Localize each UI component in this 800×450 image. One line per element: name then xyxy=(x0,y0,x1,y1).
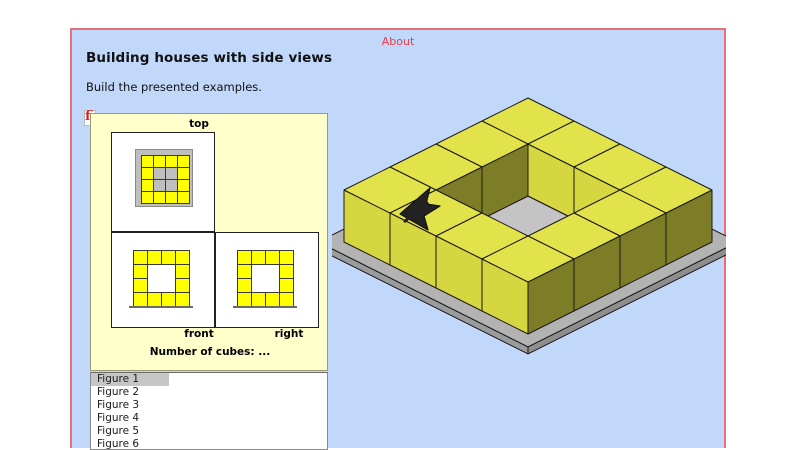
list-item[interactable]: Figure 3 xyxy=(91,399,327,412)
top-view-box[interactable] xyxy=(111,132,215,232)
right-elevation xyxy=(233,250,295,312)
front-view-cell-3-2[interactable] xyxy=(161,292,176,307)
front-elevation-grid xyxy=(133,250,189,306)
right-view-cell-0-0[interactable] xyxy=(237,250,252,265)
right-view-cell-3-3[interactable] xyxy=(279,292,294,307)
list-item[interactable]: Figure 2 xyxy=(91,386,327,399)
list-item[interactable]: Figure 5 xyxy=(91,425,327,438)
figure-list[interactable]: Figure 1Figure 2Figure 3Figure 4Figure 5… xyxy=(90,372,328,450)
right-view-cell-0-1[interactable] xyxy=(251,250,266,265)
top-view-grid xyxy=(141,155,189,203)
right-elevation-grid xyxy=(237,250,293,306)
right-view-cell-1-2[interactable] xyxy=(265,264,280,279)
list-item[interactable]: Figure 4 xyxy=(91,412,327,425)
list-item[interactable]: Figure 6 xyxy=(91,438,327,450)
label-top-view: top xyxy=(109,118,289,130)
front-view-cell-1-2[interactable] xyxy=(161,264,176,279)
right-view-cell-3-2[interactable] xyxy=(265,292,280,307)
front-elevation xyxy=(129,250,191,312)
front-view-cell-1-1[interactable] xyxy=(147,264,162,279)
front-view-cell-0-3[interactable] xyxy=(175,250,190,265)
page-frame: About Building houses with side views Bu… xyxy=(70,28,726,448)
front-ground-line xyxy=(129,306,193,308)
top-view-cell-3-3[interactable] xyxy=(177,191,190,204)
right-view-box[interactable] xyxy=(215,232,319,328)
right-view-cell-3-0[interactable] xyxy=(237,292,252,307)
right-view-cell-1-3[interactable] xyxy=(279,264,294,279)
page-title: Building houses with side views xyxy=(86,50,332,66)
right-view-cell-2-2[interactable] xyxy=(265,278,280,293)
page-subtitle: Build the presented examples. xyxy=(86,80,262,94)
right-view-cell-0-2[interactable] xyxy=(265,250,280,265)
right-view-cell-2-3[interactable] xyxy=(279,278,294,293)
right-view-cell-2-1[interactable] xyxy=(251,278,266,293)
list-item[interactable]: Figure 1 xyxy=(91,373,169,386)
front-view-cell-3-3[interactable] xyxy=(175,292,190,307)
front-view-cell-3-0[interactable] xyxy=(133,292,148,307)
right-view-cell-3-1[interactable] xyxy=(251,292,266,307)
front-view-cell-2-3[interactable] xyxy=(175,278,190,293)
top-view-plate xyxy=(135,149,193,207)
front-view-cell-1-3[interactable] xyxy=(175,264,190,279)
front-view-box[interactable] xyxy=(111,232,215,328)
number-of-cubes-label: Number of cubes: ... xyxy=(91,346,329,358)
front-view-cell-0-2[interactable] xyxy=(161,250,176,265)
front-view-cell-0-0[interactable] xyxy=(133,250,148,265)
cube-stack xyxy=(344,98,712,334)
isometric-cube-model-svg xyxy=(332,30,726,450)
front-view-cell-2-0[interactable] xyxy=(133,278,148,293)
cube-model-scene[interactable] xyxy=(332,30,726,450)
front-view-cell-0-1[interactable] xyxy=(147,250,162,265)
applet-container: fi top front right xyxy=(84,110,330,450)
front-view-cell-2-1[interactable] xyxy=(147,278,162,293)
right-view-cell-2-0[interactable] xyxy=(237,278,252,293)
right-ground-line xyxy=(233,306,297,308)
views-panel: top front right xyxy=(90,113,328,371)
front-view-cell-1-0[interactable] xyxy=(133,264,148,279)
front-view-cell-3-1[interactable] xyxy=(147,292,162,307)
right-view-cell-1-1[interactable] xyxy=(251,264,266,279)
front-view-cell-2-2[interactable] xyxy=(161,278,176,293)
right-view-cell-0-3[interactable] xyxy=(279,250,294,265)
right-view-cell-1-0[interactable] xyxy=(237,264,252,279)
